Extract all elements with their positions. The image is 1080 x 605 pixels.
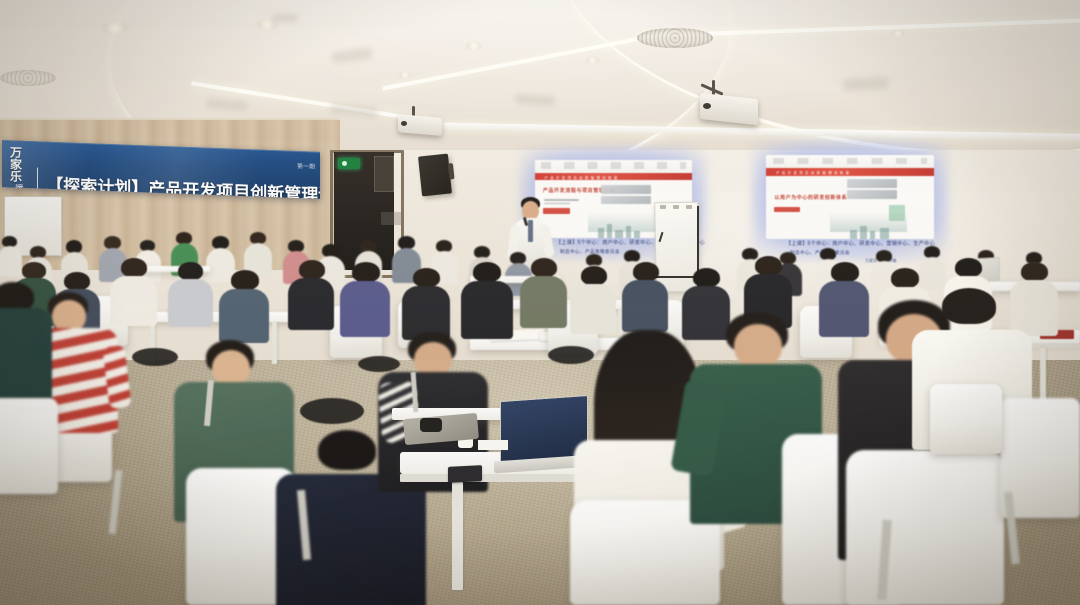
slide-redbar-text: 产品开发项目创新管理训练营 [544,175,619,180]
slide-image-block [601,185,651,194]
ceiling-downlight [585,57,600,64]
chair-seat[interactable] [300,398,364,424]
chair-seat[interactable] [358,356,400,372]
banner-tail-text: 第一期 [297,164,315,172]
air-vent-icon [0,70,56,86]
screen-caption-right: 【上课】5个中心：用户中心、研发中心、营销中心、生产中心 [786,241,946,249]
slide-image-block [847,190,897,198]
chair-seat[interactable] [132,348,178,366]
slide-redbar-text: 产品开发项目创新管理训练营 [776,170,851,175]
slide-cta-button [543,208,570,213]
wall-speaker-icon [418,154,452,197]
ceiling-downlight [465,42,483,50]
wall-plaque [381,212,403,225]
flipchart-clip [673,205,679,209]
chair[interactable] [846,450,1004,605]
chair[interactable] [930,384,1002,454]
logo-primary-text: 万家乐 [10,146,29,183]
projector-lens [703,103,711,109]
screen-caption-right-2: 制造中心、产品策略委员会 [790,250,940,256]
slide-image-block [847,179,897,187]
projector-lens [401,121,407,126]
door-window-panel [374,156,394,192]
ceiling-downlight [100,22,130,34]
chair[interactable] [0,398,58,494]
chair-seat[interactable] [548,346,594,364]
camera-lens-icon [420,418,442,432]
slide-headline: 以用户为中心的研发创新体系 [774,194,847,201]
exit-sign-icon [338,158,360,169]
flipchart-clip [686,205,692,209]
slide-cta-button [774,207,799,212]
photo-scene: 万家乐 远大方略 【探索计划】产品开发项目创新管理训练营 第一期 产品开发项目创… [0,0,1080,605]
projection-screen-right: 产品开发项目创新管理训练营 以用户为中心的研发创新体系 [766,155,934,239]
ceiling-downlight [890,30,906,37]
flipchart-clip [660,205,666,209]
slide-image-block [601,196,651,204]
smartphone[interactable] [448,465,482,483]
air-vent-icon [637,28,713,48]
ceiling-downlight [398,72,412,78]
flipchart-tray [656,276,698,278]
